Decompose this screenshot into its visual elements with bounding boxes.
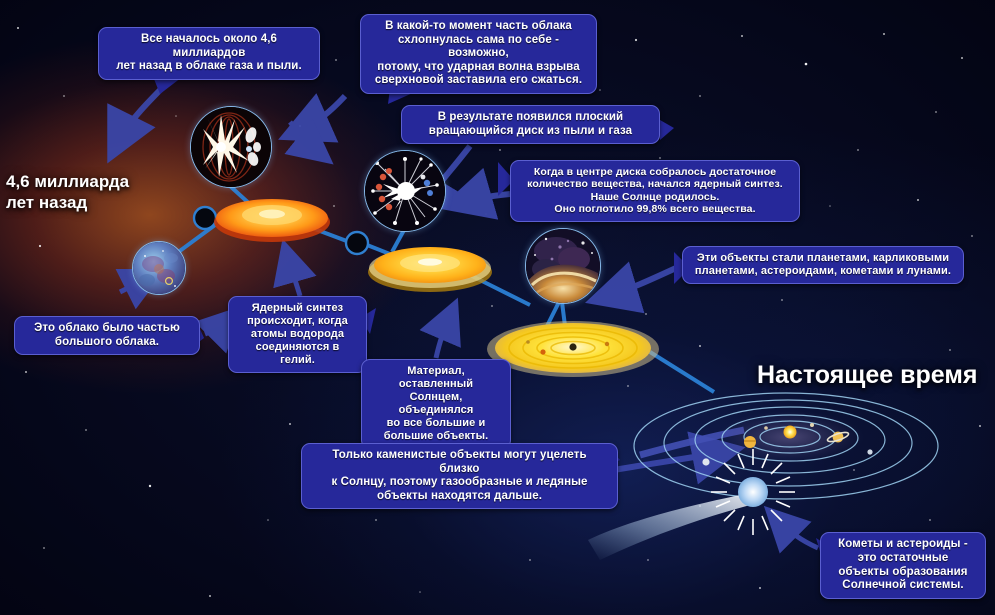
tooltip-sun-born-text: Когда в центре диска собралось достаточн… <box>527 166 783 216</box>
arrow-small-1 <box>290 122 318 152</box>
protoplanetary-disk-orange <box>214 199 330 242</box>
tooltip-beginning: Все началось около 4,6 миллиардов лет на… <box>98 27 320 80</box>
arrow-cloud-part <box>205 320 228 334</box>
arrow-to-supernova <box>118 78 172 142</box>
protoplanetary-disk-yellow <box>368 247 492 292</box>
tooltip-cloud-part: Это облако было частью большого облака. <box>14 316 200 355</box>
comet-with-tail <box>588 449 795 560</box>
tooltip-flat-disk-text: В результате появился плоский вращающийс… <box>429 111 632 138</box>
tooltip-fusion-text: Ядерный синтез происходит, когда атомы в… <box>238 302 357 367</box>
arrow-comets <box>778 520 818 548</box>
beam-left <box>640 430 744 455</box>
tooltip-beginning-text: Все началось около 4,6 миллиардов лет на… <box>108 33 310 74</box>
inset-planet-collision <box>525 228 601 304</box>
time-label-start: 4,6 миллиарда лет назад <box>6 172 129 213</box>
inset-supernova-burst <box>190 106 272 188</box>
arrow-material-up <box>436 316 450 358</box>
time-label-present: Настоящее время <box>757 360 977 391</box>
tooltip-cloud-part-text: Это облако было частью большого облака. <box>34 322 180 349</box>
sun <box>784 426 797 439</box>
tooltip-flat-disk: В результате появился плоский вращающийс… <box>401 105 660 144</box>
planet-jupiter <box>744 436 756 448</box>
arrow-fusion-up <box>288 258 300 296</box>
tooltip-objects-became-planets: Эти объекты стали планетами, карликовыми… <box>682 246 964 284</box>
asteroid-belt <box>716 411 864 463</box>
tooltip-material-left-text: Материал, оставленный Солнцем, объединял… <box>371 365 501 443</box>
tooltip-comets-asteroids: Кометы и астероиды - это остаточные объе… <box>820 532 986 599</box>
tooltip-rocky-objects: Только каменистые объекты могут уцелеть … <box>301 443 618 509</box>
arrow-sun-born <box>462 194 510 202</box>
arrow-objects-planets <box>608 268 676 296</box>
protoplanetary-disk-rings <box>487 321 659 377</box>
tooltip-comets-asteroids-text: Кометы и астероиды - это остаточные объе… <box>838 538 968 592</box>
tooltip-material-left: Материал, оставленный Солнцем, объединял… <box>361 359 511 449</box>
infographic-canvas: Все началось около 4,6 миллиардов лет на… <box>0 0 995 615</box>
tooltip-cloud-collapse-text: В какой-то момент часть облака схлопнула… <box>370 20 587 88</box>
arrow-rocky-objects <box>614 452 722 470</box>
tooltip-cloud-collapse: В какой-то момент часть облака схлопнула… <box>360 14 597 94</box>
tooltip-rocky-objects-text: Только каменистые объекты могут уцелеть … <box>311 449 608 503</box>
inset-nuclear-fusion <box>364 150 446 232</box>
tooltip-fusion: Ядерный синтез происходит, когда атомы в… <box>228 296 367 373</box>
planet-saturn <box>827 431 850 444</box>
tooltip-objects-became-planets-text: Эти объекты стали планетами, карликовыми… <box>695 252 951 278</box>
planet-outer <box>867 449 872 454</box>
arrow-cloud-collapse <box>300 96 345 130</box>
tooltip-sun-born: Когда в центре диска собралось достаточн… <box>510 160 800 222</box>
planet-inner <box>702 458 709 465</box>
inset-gas-cloud-planet <box>132 241 186 295</box>
